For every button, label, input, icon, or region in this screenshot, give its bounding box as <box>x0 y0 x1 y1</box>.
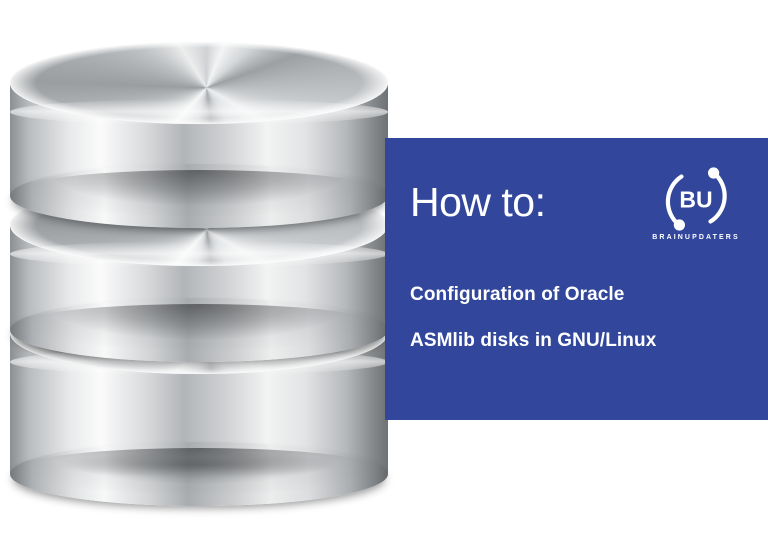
bu-ring-icon: BU <box>661 164 731 234</box>
page-title: How to: <box>410 182 546 223</box>
subtitle-line-1: Configuration of Oracle <box>410 272 740 318</box>
database-disk-stack-illustration <box>10 42 388 484</box>
info-panel: How to: Configuration of Oracle ASMlib d… <box>385 138 768 420</box>
bu-initials: BU <box>679 187 712 213</box>
subtitle-line-2: ASMlib disks in GNU/Linux <box>410 318 740 364</box>
ring-dot-top <box>708 167 719 178</box>
disk-neck-highlight <box>10 99 388 125</box>
disk-bottom-shading <box>10 304 388 350</box>
disk-bottom-shading <box>10 170 388 216</box>
disk-neck-highlight <box>10 241 388 267</box>
illustration-ground-shadow <box>16 452 382 486</box>
ring-dot-bottom <box>674 219 685 230</box>
brand-wordmark: BRAINUPDATERS <box>648 234 744 241</box>
screenshot-canvas: How to: Configuration of Oracle ASMlib d… <box>0 0 768 538</box>
subtitle-block: Configuration of Oracle ASMlib disks in … <box>410 272 740 364</box>
brand-logo: BU BRAINUPDATERS <box>648 164 744 256</box>
